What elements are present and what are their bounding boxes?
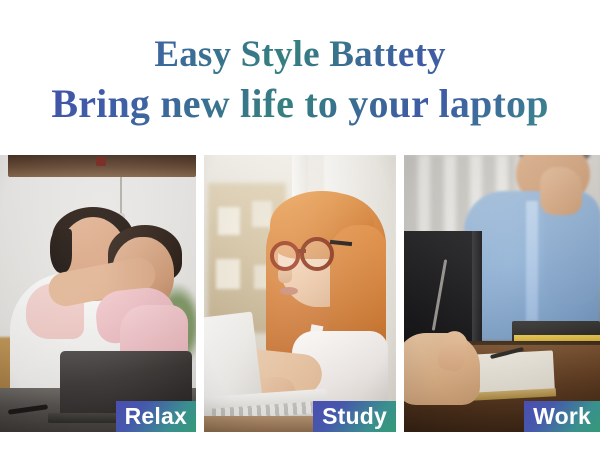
promo-banner: Easy Style Battety Bring new life to you… <box>0 0 600 450</box>
photo-work <box>404 155 600 432</box>
panel-row: Relax <box>0 155 600 432</box>
panel-study[interactable]: Study <box>204 155 396 432</box>
photo-vignette <box>0 155 196 432</box>
photo-vignette <box>204 155 396 432</box>
photo-study <box>204 155 396 432</box>
photo-vignette <box>404 155 600 432</box>
badge-work: Work <box>524 401 600 432</box>
badge-study: Study <box>313 401 396 432</box>
headline-line-1: Easy Style Battety <box>0 32 600 78</box>
panel-work[interactable]: Work <box>404 155 600 432</box>
photo-relax <box>0 155 196 432</box>
headline-block: Easy Style Battety Bring new life to you… <box>0 32 600 128</box>
panel-relax[interactable]: Relax <box>0 155 196 432</box>
badge-relax: Relax <box>116 401 196 432</box>
headline-line-2: Bring new life to your laptop <box>0 80 600 128</box>
